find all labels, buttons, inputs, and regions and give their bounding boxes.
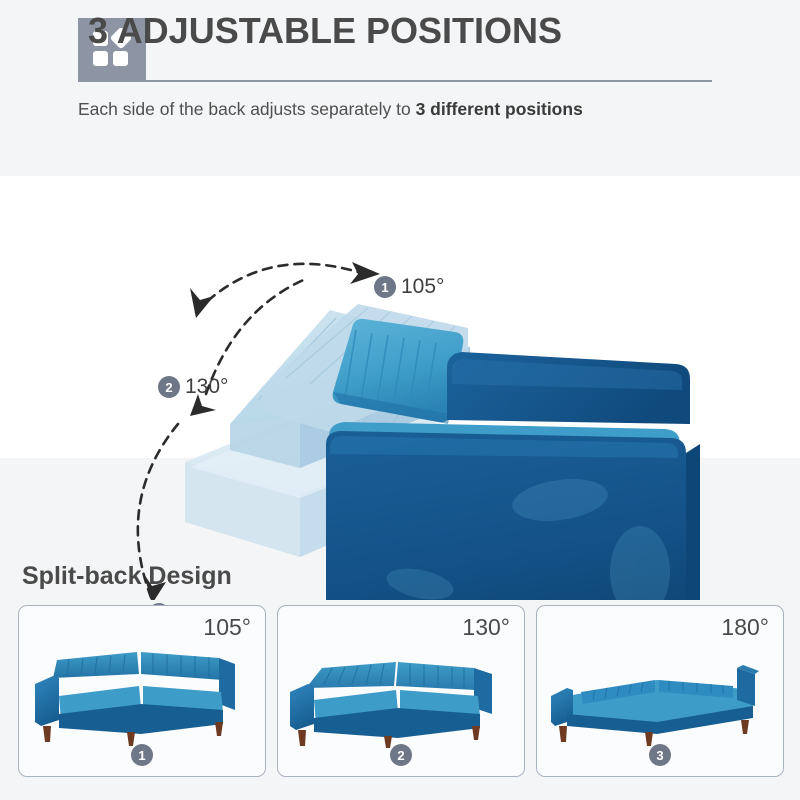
hero-marker-2: 2 130° xyxy=(158,375,228,399)
hero-sofa-diagram xyxy=(0,132,800,600)
card-badge-2: 2 xyxy=(390,744,412,766)
hero-marker-1: 1 105° xyxy=(374,275,444,299)
sofa-thumb-105 xyxy=(19,634,266,752)
position-cards: 105° xyxy=(18,605,784,777)
card-badge-1: 1 xyxy=(131,744,153,766)
hero-illustration: 1 105° 2 130° 3 180° xyxy=(0,132,800,600)
hero-badge-2: 2 xyxy=(158,376,180,398)
position-card-2[interactable]: 130° xyxy=(277,605,525,777)
sofa-main xyxy=(326,319,700,600)
subtitle-plain: Each side of the back adjusts separately… xyxy=(78,99,416,119)
page-title: 3 ADJUSTABLE POSITIONS xyxy=(88,10,562,52)
sofa-thumb-130 xyxy=(278,634,525,752)
infographic-page: 3 ADJUSTABLE POSITIONS Each side of the … xyxy=(0,0,800,800)
hero-angle-1: 105° xyxy=(401,275,444,299)
sofa-side-depth xyxy=(686,444,700,600)
title-divider xyxy=(78,80,712,82)
position-card-1[interactable]: 105° xyxy=(18,605,266,777)
page-subtitle: Each side of the back adjusts separately… xyxy=(78,99,778,120)
hero-angle-2: 130° xyxy=(185,375,228,399)
section-title-split-back: Split-back Design xyxy=(22,562,232,591)
card-badge-3: 3 xyxy=(649,744,671,766)
sofa-thumb-180 xyxy=(537,634,784,752)
arrow-to-105 xyxy=(196,264,358,312)
position-card-3[interactable]: 180° xyxy=(536,605,784,777)
subtitle-bold: 3 different positions xyxy=(416,99,583,119)
hero-badge-1: 1 xyxy=(374,276,396,298)
